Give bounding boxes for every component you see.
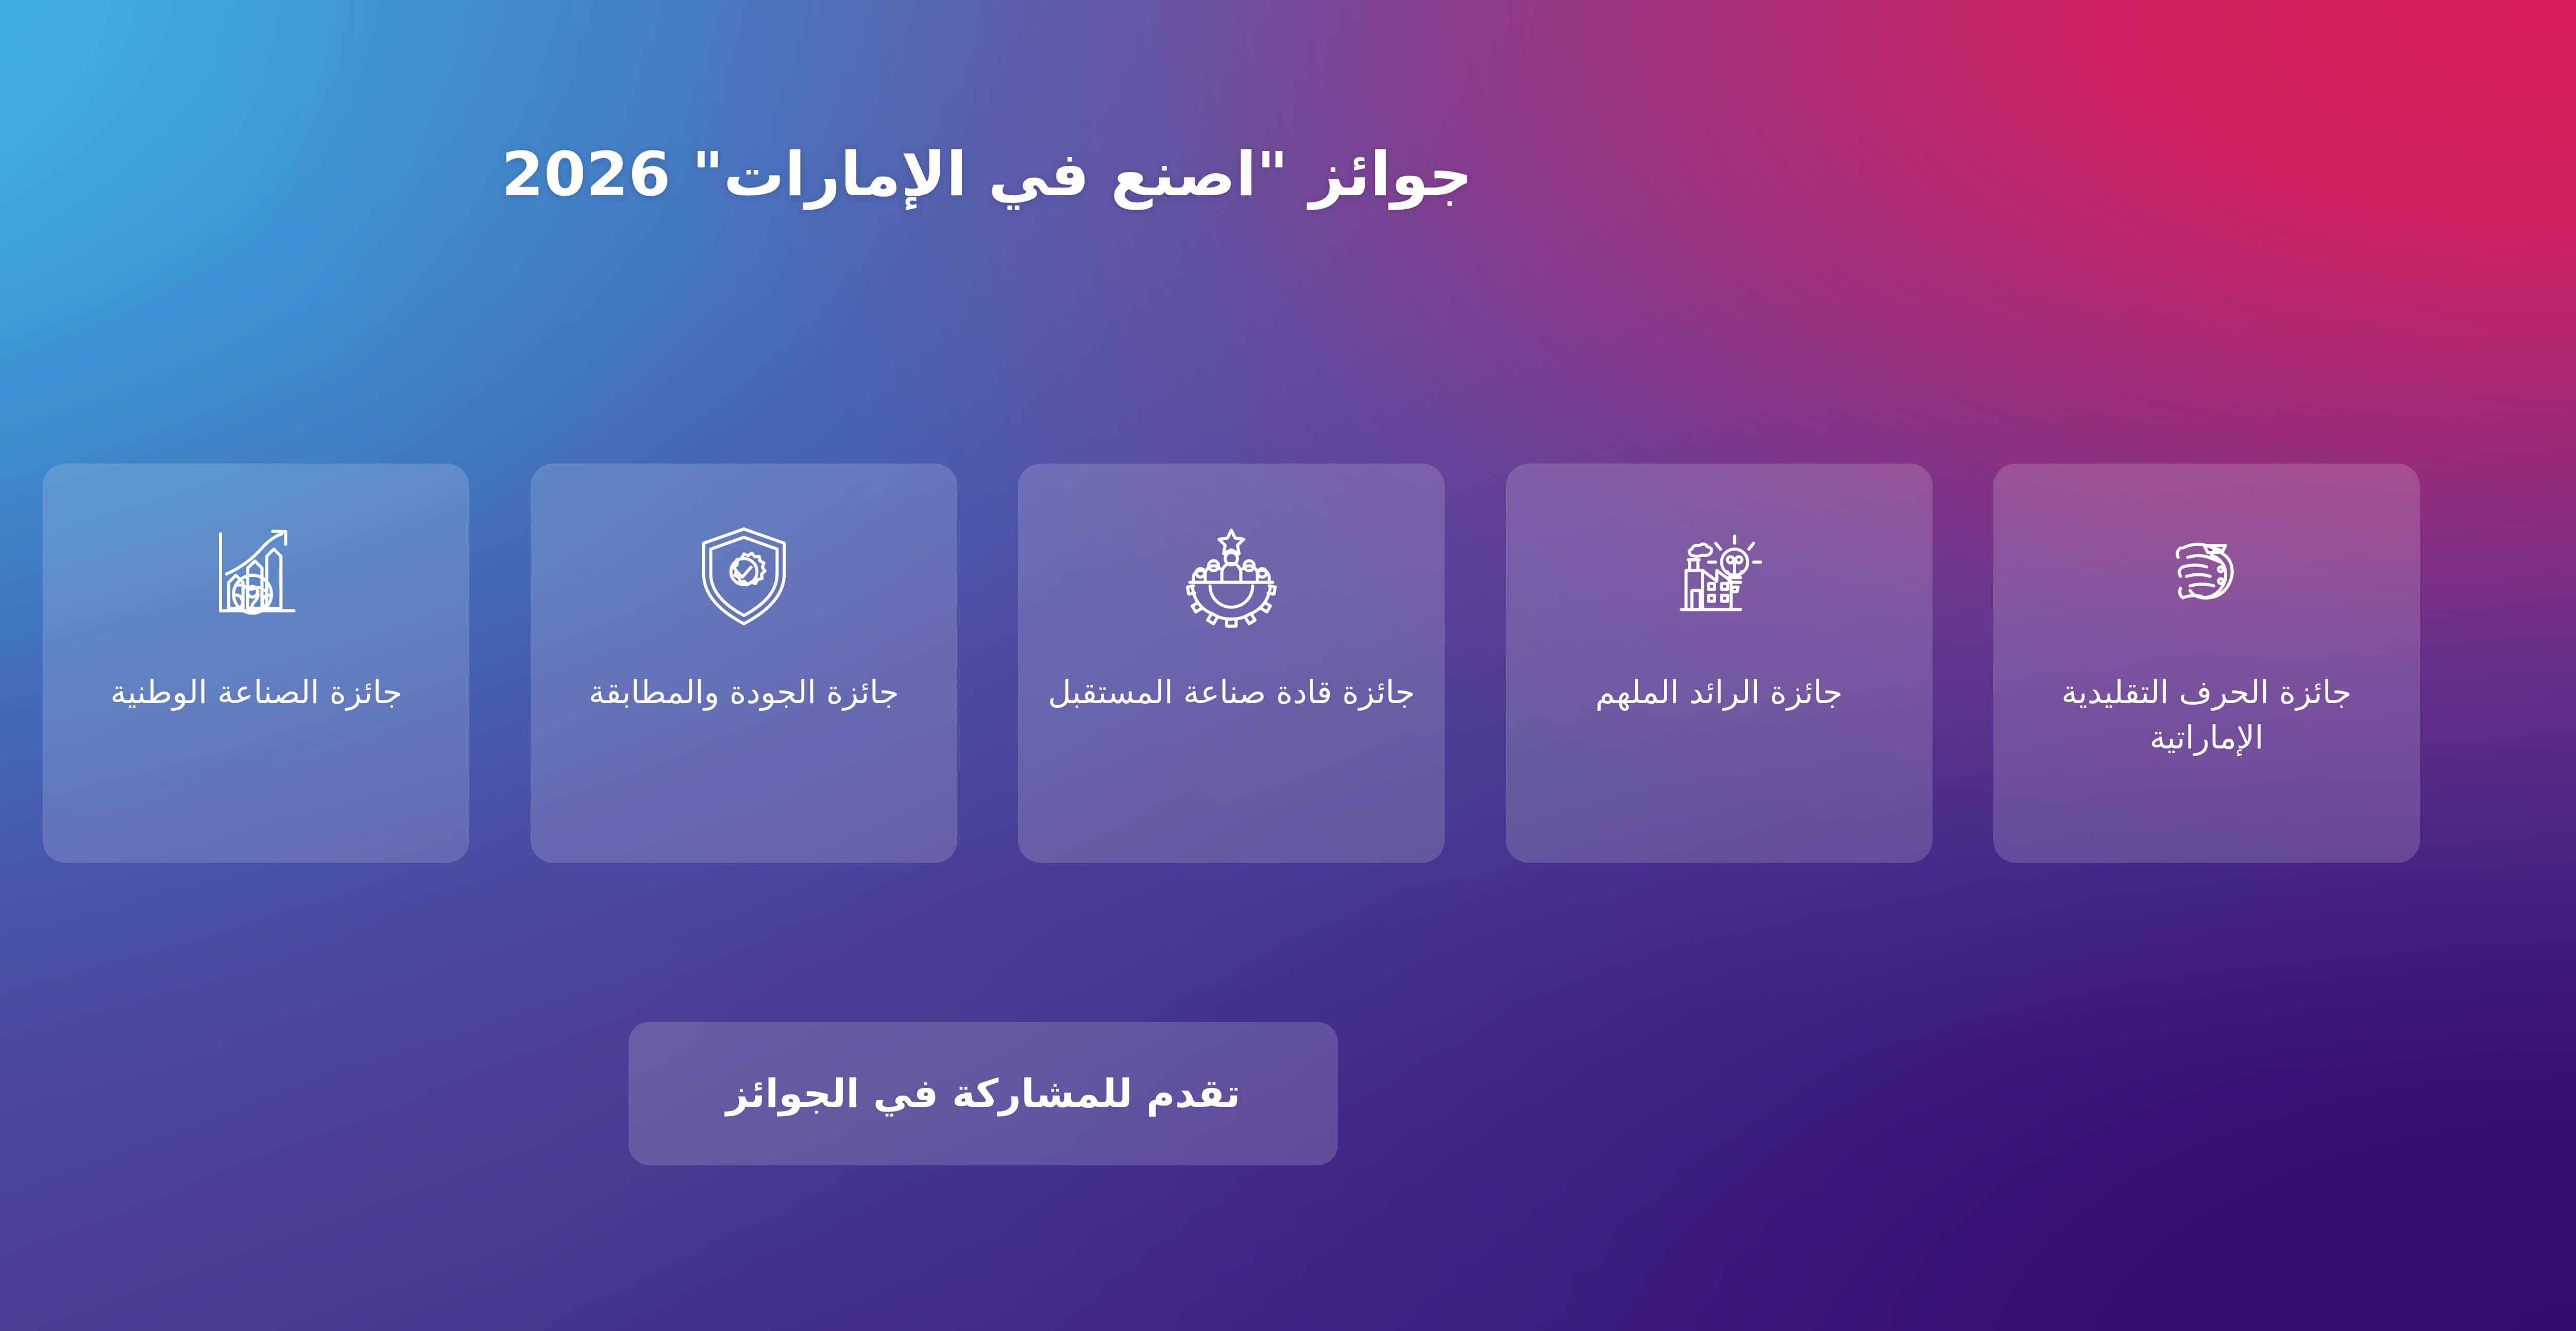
page-title: جوائز "اصنع في الإمارات" 2026: [0, 136, 2576, 213]
award-card-label: جائزة الجودة والمطابقة: [553, 670, 935, 715]
award-card-label: جائزة الصناعة الوطنية: [65, 670, 447, 715]
award-card-national-industry[interactable]: جائزة الصناعة الوطنية: [43, 464, 469, 863]
star-team-gear-icon: [1172, 517, 1291, 636]
award-card-label: جائزة قادة صناعة المستقبل: [1041, 670, 1422, 715]
factory-lightbulb-icon: [1660, 517, 1778, 636]
award-card-inspiring-pioneer[interactable]: جائزة الرائد الملهم: [1506, 464, 1933, 863]
apply-for-awards-button[interactable]: تقدم للمشاركة في الجوائز: [629, 1022, 1338, 1165]
award-card-label: جائزة الحرف التقليدية الإماراتية: [2016, 670, 2397, 760]
growth-chart-globe-icon: [197, 517, 315, 636]
awards-banner: جوائز "اصنع في الإمارات" 2026: [0, 0, 2576, 1331]
award-card-future-leaders[interactable]: جائزة قادة صناعة المستقبل: [1018, 464, 1445, 863]
shield-gear-check-icon: [685, 517, 803, 636]
award-card-label: جائزة الرائد الملهم: [1529, 670, 1910, 715]
hands-pottery-icon: [2147, 517, 2266, 636]
award-card-quality-conformity[interactable]: جائزة الجودة والمطابقة: [531, 464, 957, 863]
awards-card-row: جائزة الحرف التقليدية الإماراتية: [0, 464, 2420, 863]
award-card-traditional-crafts[interactable]: جائزة الحرف التقليدية الإماراتية: [1993, 464, 2420, 863]
